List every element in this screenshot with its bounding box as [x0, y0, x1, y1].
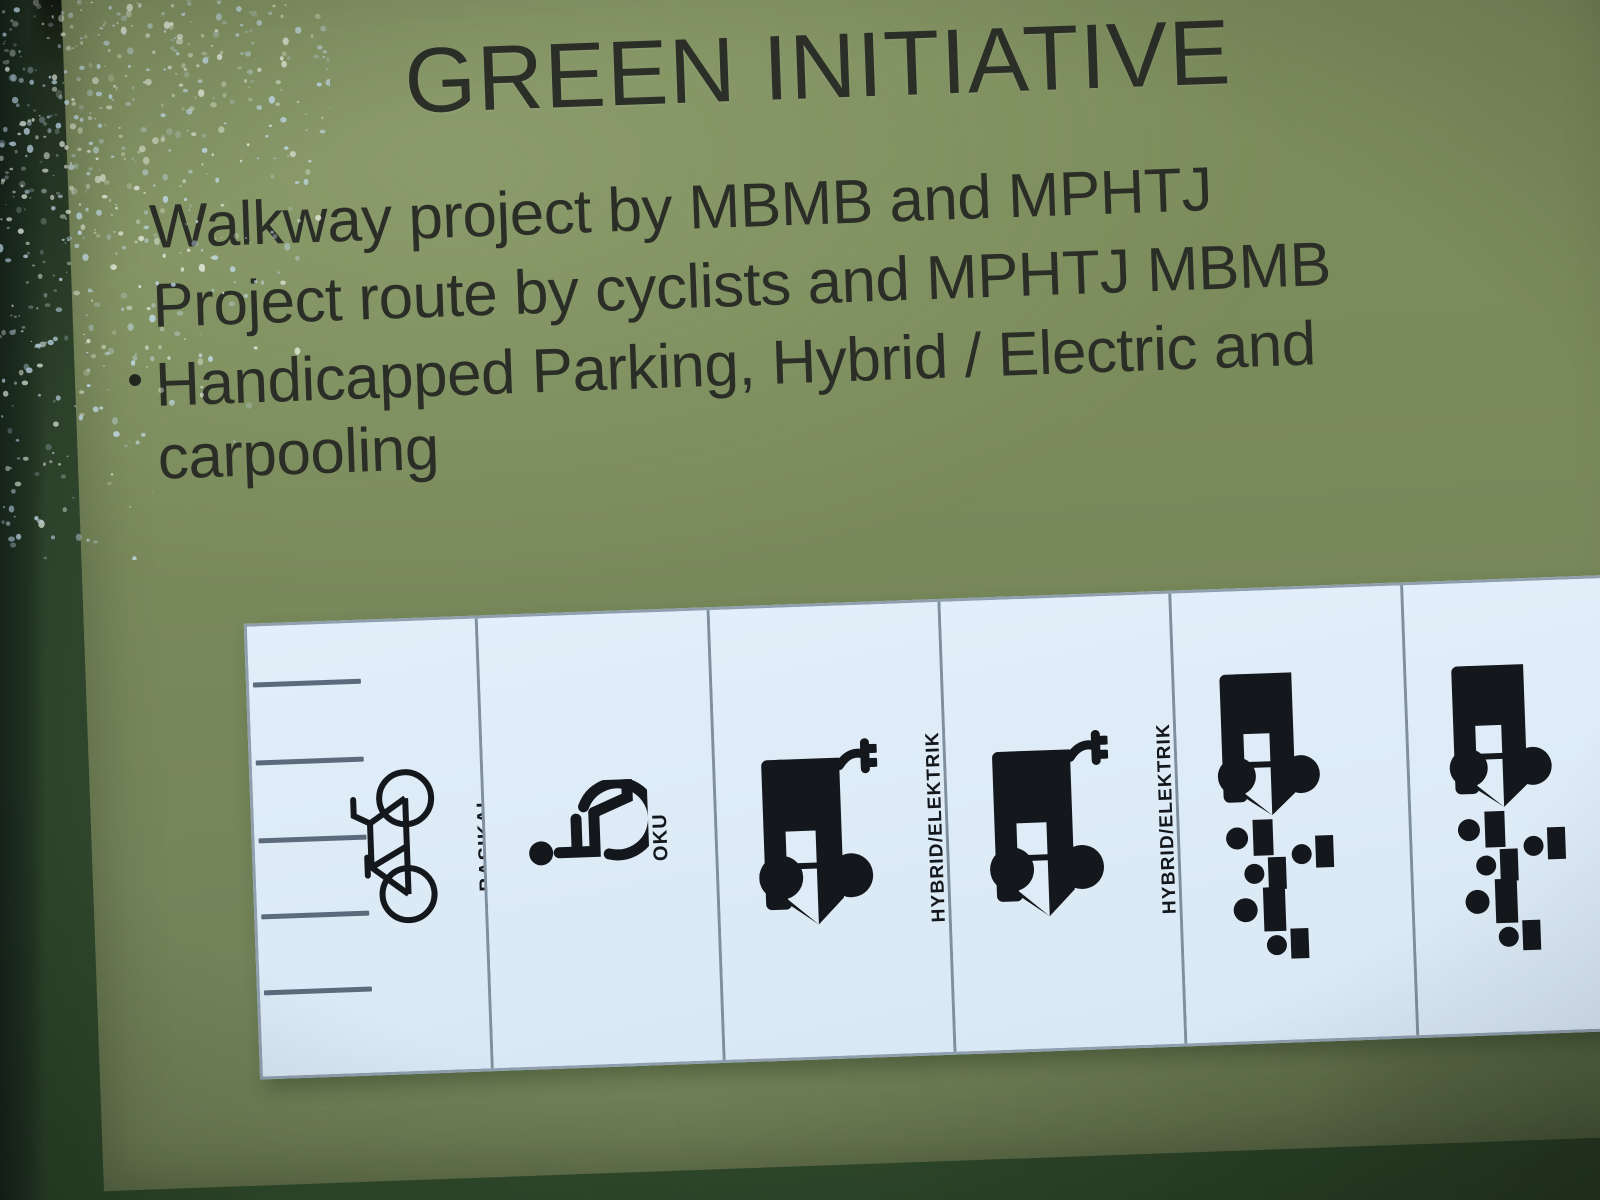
electric-car-icon — [754, 726, 883, 936]
sign-panel-carpool-1: KELUARGA/KONGSI KERETA — [1172, 585, 1419, 1043]
wheelchair-icon — [523, 779, 651, 901]
sign-panel-hybrid-2: HYBRID/ELEKTRIK — [940, 594, 1187, 1052]
page-title: GREEN INITIATIVE — [403, 0, 1233, 135]
sign-panel-basikal: BASIKAL — [247, 618, 494, 1076]
screenshot-root: GREEN INITIATIVE • Walkway project by MB… — [0, 0, 1600, 1200]
sign-panel-content: BASIKAL — [247, 619, 491, 1077]
sign-panel-content: KELUARGA/KONGSI KERETA — [1172, 585, 1416, 1043]
left-shadow-strip — [0, 0, 46, 1200]
parking-sign-strip: BASIKAL — [244, 574, 1600, 1079]
electric-car-icon — [985, 718, 1114, 928]
bullet-list: • Walkway project by MBMB and MPHTJ • Pr… — [108, 142, 1538, 503]
sign-panel-content: HYBRID/ELEKTRIK — [940, 594, 1184, 1052]
sign-panel-carpool-2: KELUARGA/KONGSI KERETA — [1403, 577, 1600, 1035]
carpool-family-icon — [1443, 654, 1582, 958]
bicycle-icon — [342, 765, 440, 928]
carpool-family-icon — [1211, 663, 1350, 967]
sign-panel-content: KELUARGA/KONGSI KERETA — [1403, 577, 1600, 1035]
sign-panel-oku: OKU — [478, 610, 725, 1068]
bullet-marker-icon: • — [114, 349, 156, 412]
sign-panel-content: OKU — [478, 610, 722, 1068]
sign-panel-label: OKU — [649, 813, 674, 862]
slide-content: GREEN INITIATIVE • Walkway project by MB… — [60, 0, 1600, 1191]
sign-panel-hybrid-1: HYBRID/ELEKTRIK — [709, 602, 956, 1060]
sign-panel-content: HYBRID/ELEKTRIK — [709, 602, 953, 1060]
